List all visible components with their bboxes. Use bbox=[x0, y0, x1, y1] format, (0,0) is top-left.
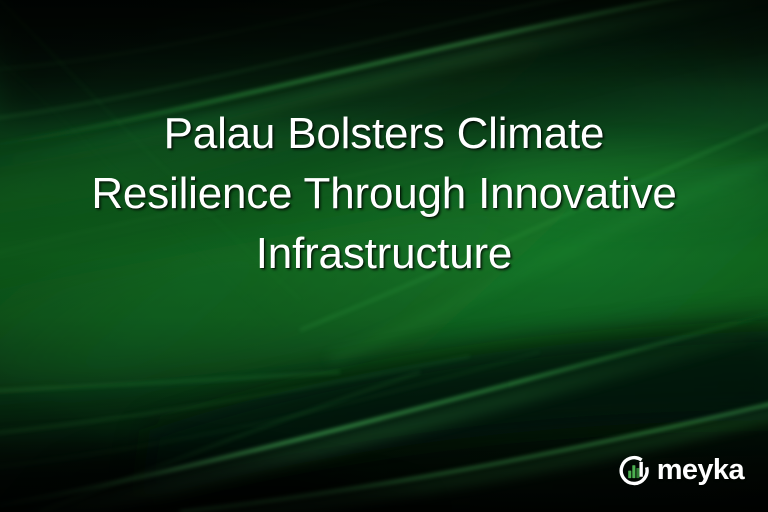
meyka-bar-chart-ring-icon bbox=[617, 453, 651, 487]
social-share-card: Palau Bolsters Climate Resilience Throug… bbox=[0, 0, 768, 512]
headline-container: Palau Bolsters Climate Resilience Throug… bbox=[0, 104, 768, 284]
page-title: Palau Bolsters Climate Resilience Throug… bbox=[28, 104, 740, 284]
wave-bottomleft-shadow bbox=[0, 451, 420, 512]
meyka-logo[interactable]: meyka bbox=[617, 452, 744, 488]
wave-left-fan-streaks bbox=[0, 352, 540, 512]
wave-top-streaks bbox=[0, 0, 768, 120]
meyka-wordmark: meyka bbox=[657, 456, 744, 485]
